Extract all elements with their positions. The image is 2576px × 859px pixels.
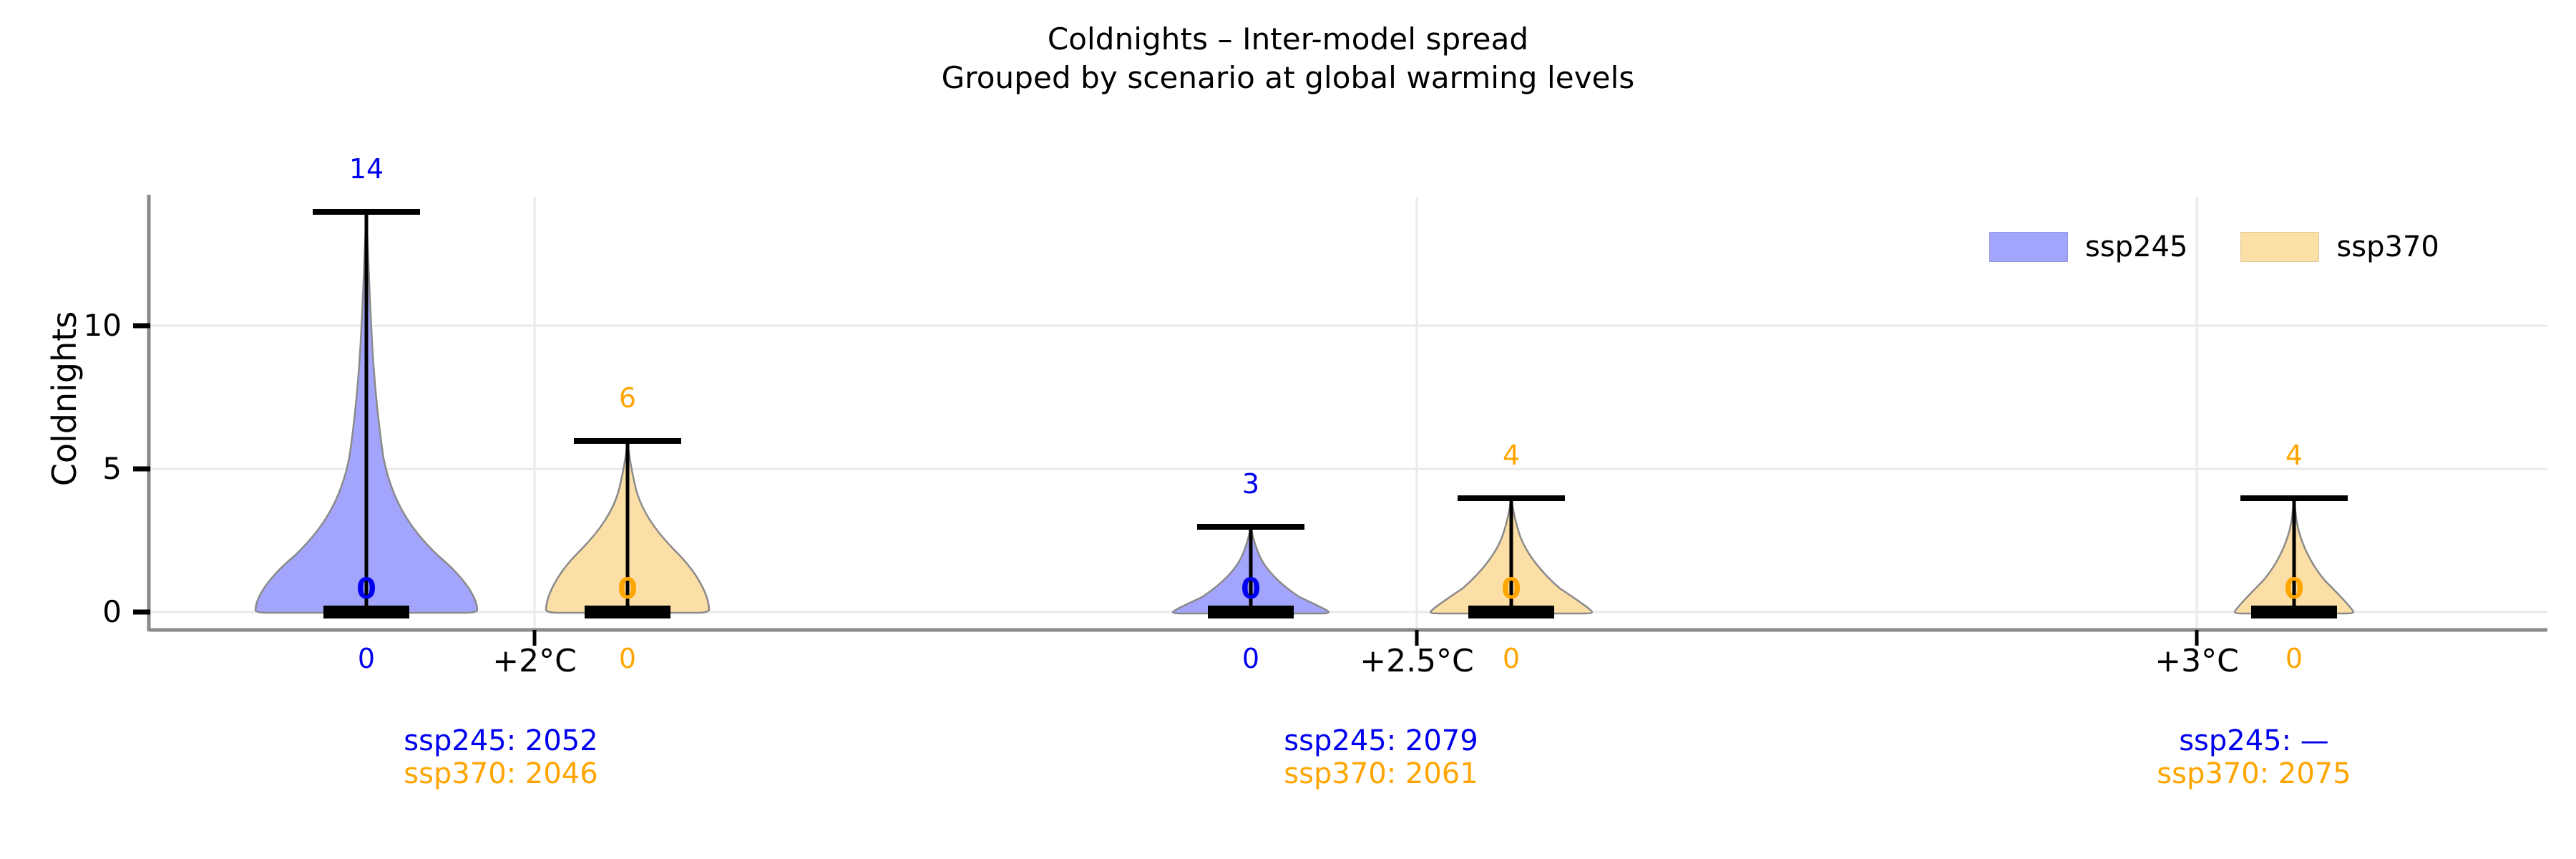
chart-canvas: Coldnights – Inter-model spread Grouped … [0,0,2576,859]
annotation-g0-ssp245-min: 0 [358,643,375,674]
footnote-2c-ssp245: ssp245: 2052 [404,724,597,757]
footnote-3c-ssp370: ssp370: 2075 [2157,757,2351,790]
annotation-g1-ssp370-max: 4 [1503,440,1520,471]
legend: ssp245 ssp370 [1989,230,2439,263]
legend-label-ssp245: ssp245 [2085,230,2187,263]
footnote-group-25c: ssp245: 2079 ssp370: 2061 [1284,724,1478,791]
footnote-25c-ssp245: ssp245: 2079 [1284,724,1478,757]
legend-entry-ssp245[interactable]: ssp245 [1989,230,2187,263]
x-gridlines [535,197,2197,630]
legend-swatch-ssp370 [2240,232,2319,262]
annotation-g0-ssp245-median: 0 [356,573,376,606]
x-group-label-3c: +3°C [2155,643,2239,679]
y-tick-label-0: 0 [72,594,122,629]
annotation-g1-ssp370-median: 0 [1501,573,1521,606]
footnote-3c-ssp245: ssp245: — [2157,724,2351,757]
legend-swatch-ssp245 [1989,232,2068,262]
annotation-g2-ssp370-min: 0 [2285,643,2303,674]
legend-entry-ssp370[interactable]: ssp370 [2240,230,2439,263]
annotation-g0-ssp370-median: 0 [618,573,638,606]
annotation-g2-ssp370-max: 4 [2285,440,2303,471]
legend-label-ssp370: ssp370 [2336,230,2439,263]
y-tick-label-10: 10 [72,308,122,343]
footnote-2c-ssp370: ssp370: 2046 [404,757,597,790]
annotation-g2-ssp370-median: 0 [2284,573,2304,606]
annotation-g1-ssp370-min: 0 [1503,643,1520,674]
annotation-g1-ssp245-max: 3 [1242,468,1259,500]
x-group-label-2c: +2°C [492,643,577,679]
annotation-g1-ssp245-min: 0 [1242,643,1259,674]
x-group-label-25c: +2.5°C [1360,643,1474,679]
footnote-25c-ssp370: ssp370: 2061 [1284,757,1478,790]
y-tick-label-5: 5 [72,451,122,486]
annotation-g0-ssp370-min: 0 [619,643,636,674]
annotation-g0-ssp245-max: 14 [349,153,384,185]
footnote-group-3c: ssp245: — ssp370: 2075 [2157,724,2351,791]
y-gridlines [149,326,2547,612]
footnote-group-2c: ssp245: 2052 ssp370: 2046 [404,724,597,791]
violin-g0-ssp245[interactable] [255,211,477,613]
annotation-g1-ssp245-median: 0 [1241,573,1261,606]
annotation-g0-ssp370-max: 6 [619,382,636,414]
